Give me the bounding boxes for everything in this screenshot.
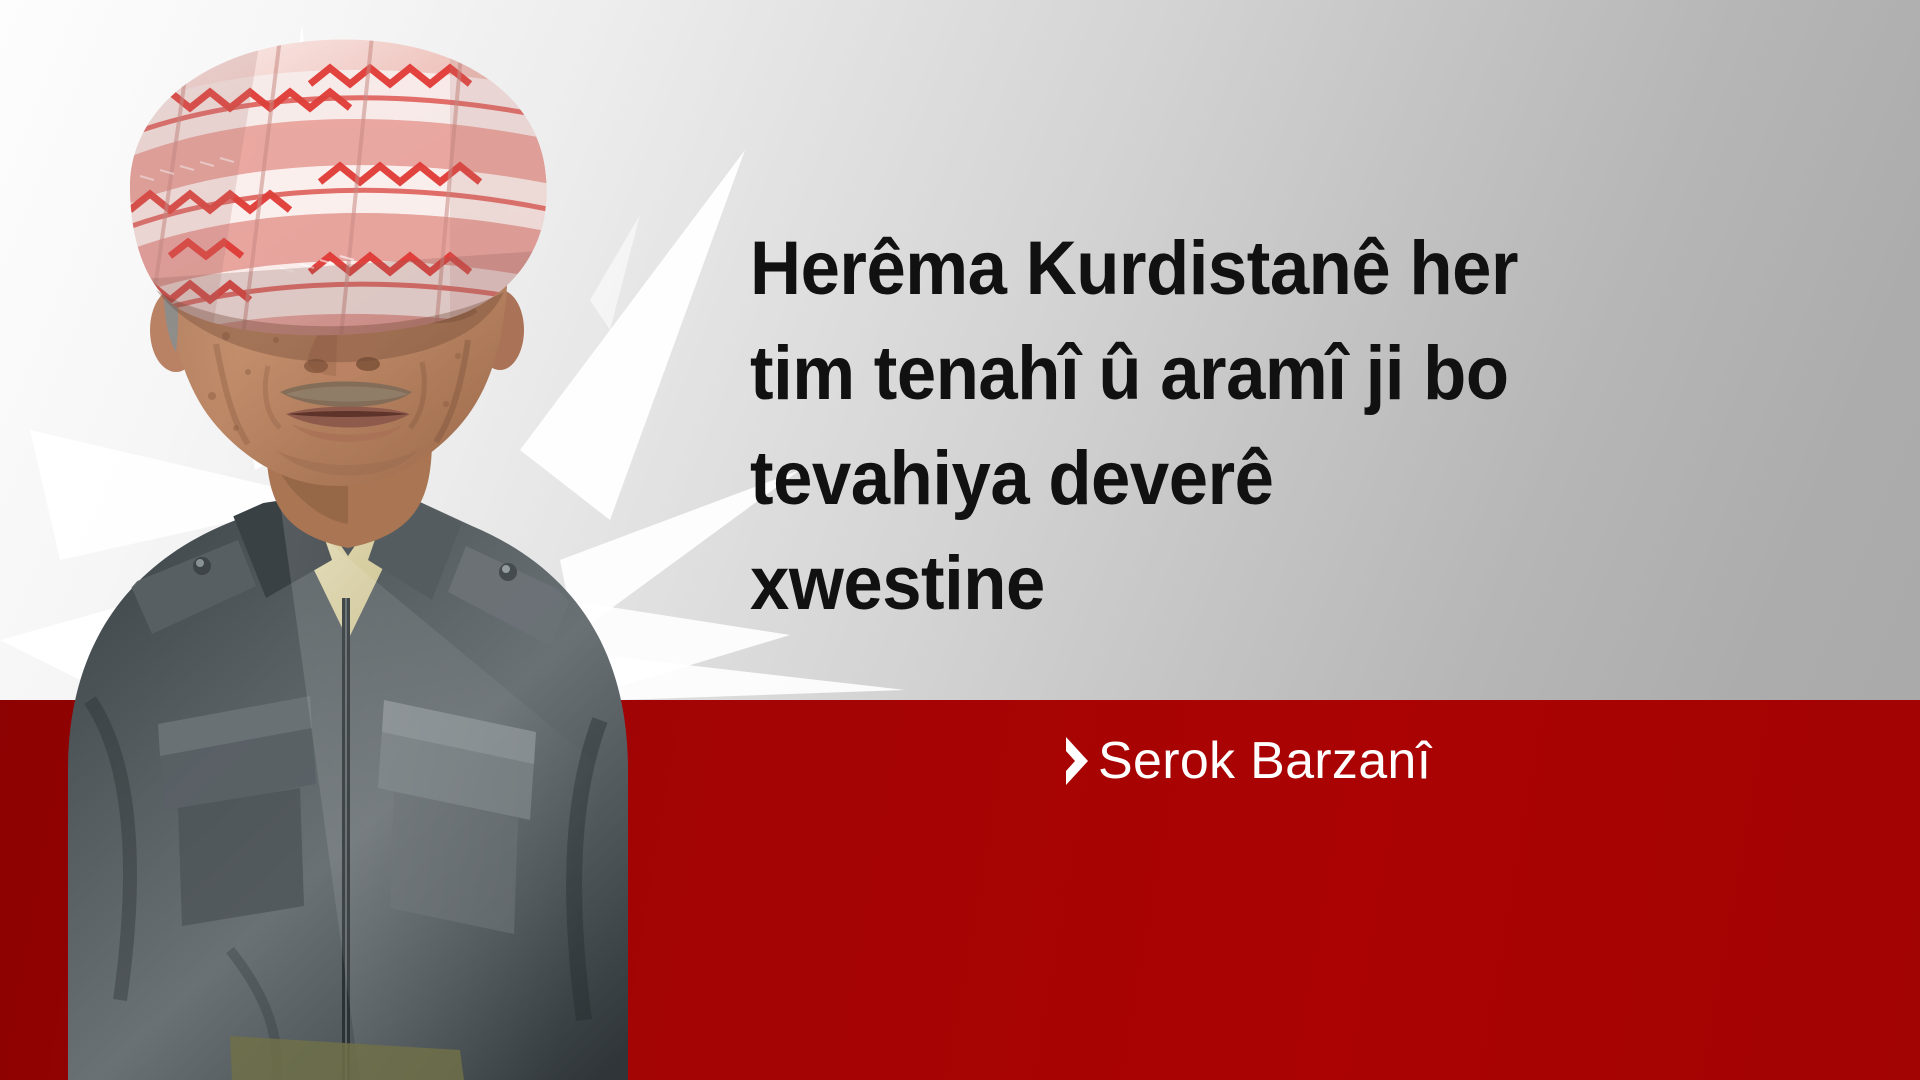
chevron-right-icon (1062, 735, 1092, 787)
portrait-image (0, 0, 810, 1080)
quote-text: Herêma Kurdistanê her tim tenahî û aramî… (750, 216, 1870, 636)
quote-line-3: tevahiya deverê (750, 426, 1792, 531)
quote-line-2: tim tenahî û aramî ji bo (750, 321, 1792, 426)
quote-card: Herêma Kurdistanê her tim tenahî û aramî… (0, 0, 1920, 1080)
uniform-jacket (68, 494, 628, 1080)
quote-line-4: xwestine (750, 531, 1792, 636)
attribution-name: Serok Barzanî (1098, 735, 1431, 787)
quote-line-1: Herêma Kurdistanê her (750, 216, 1792, 321)
attribution: Serok Barzanî (1062, 735, 1431, 787)
